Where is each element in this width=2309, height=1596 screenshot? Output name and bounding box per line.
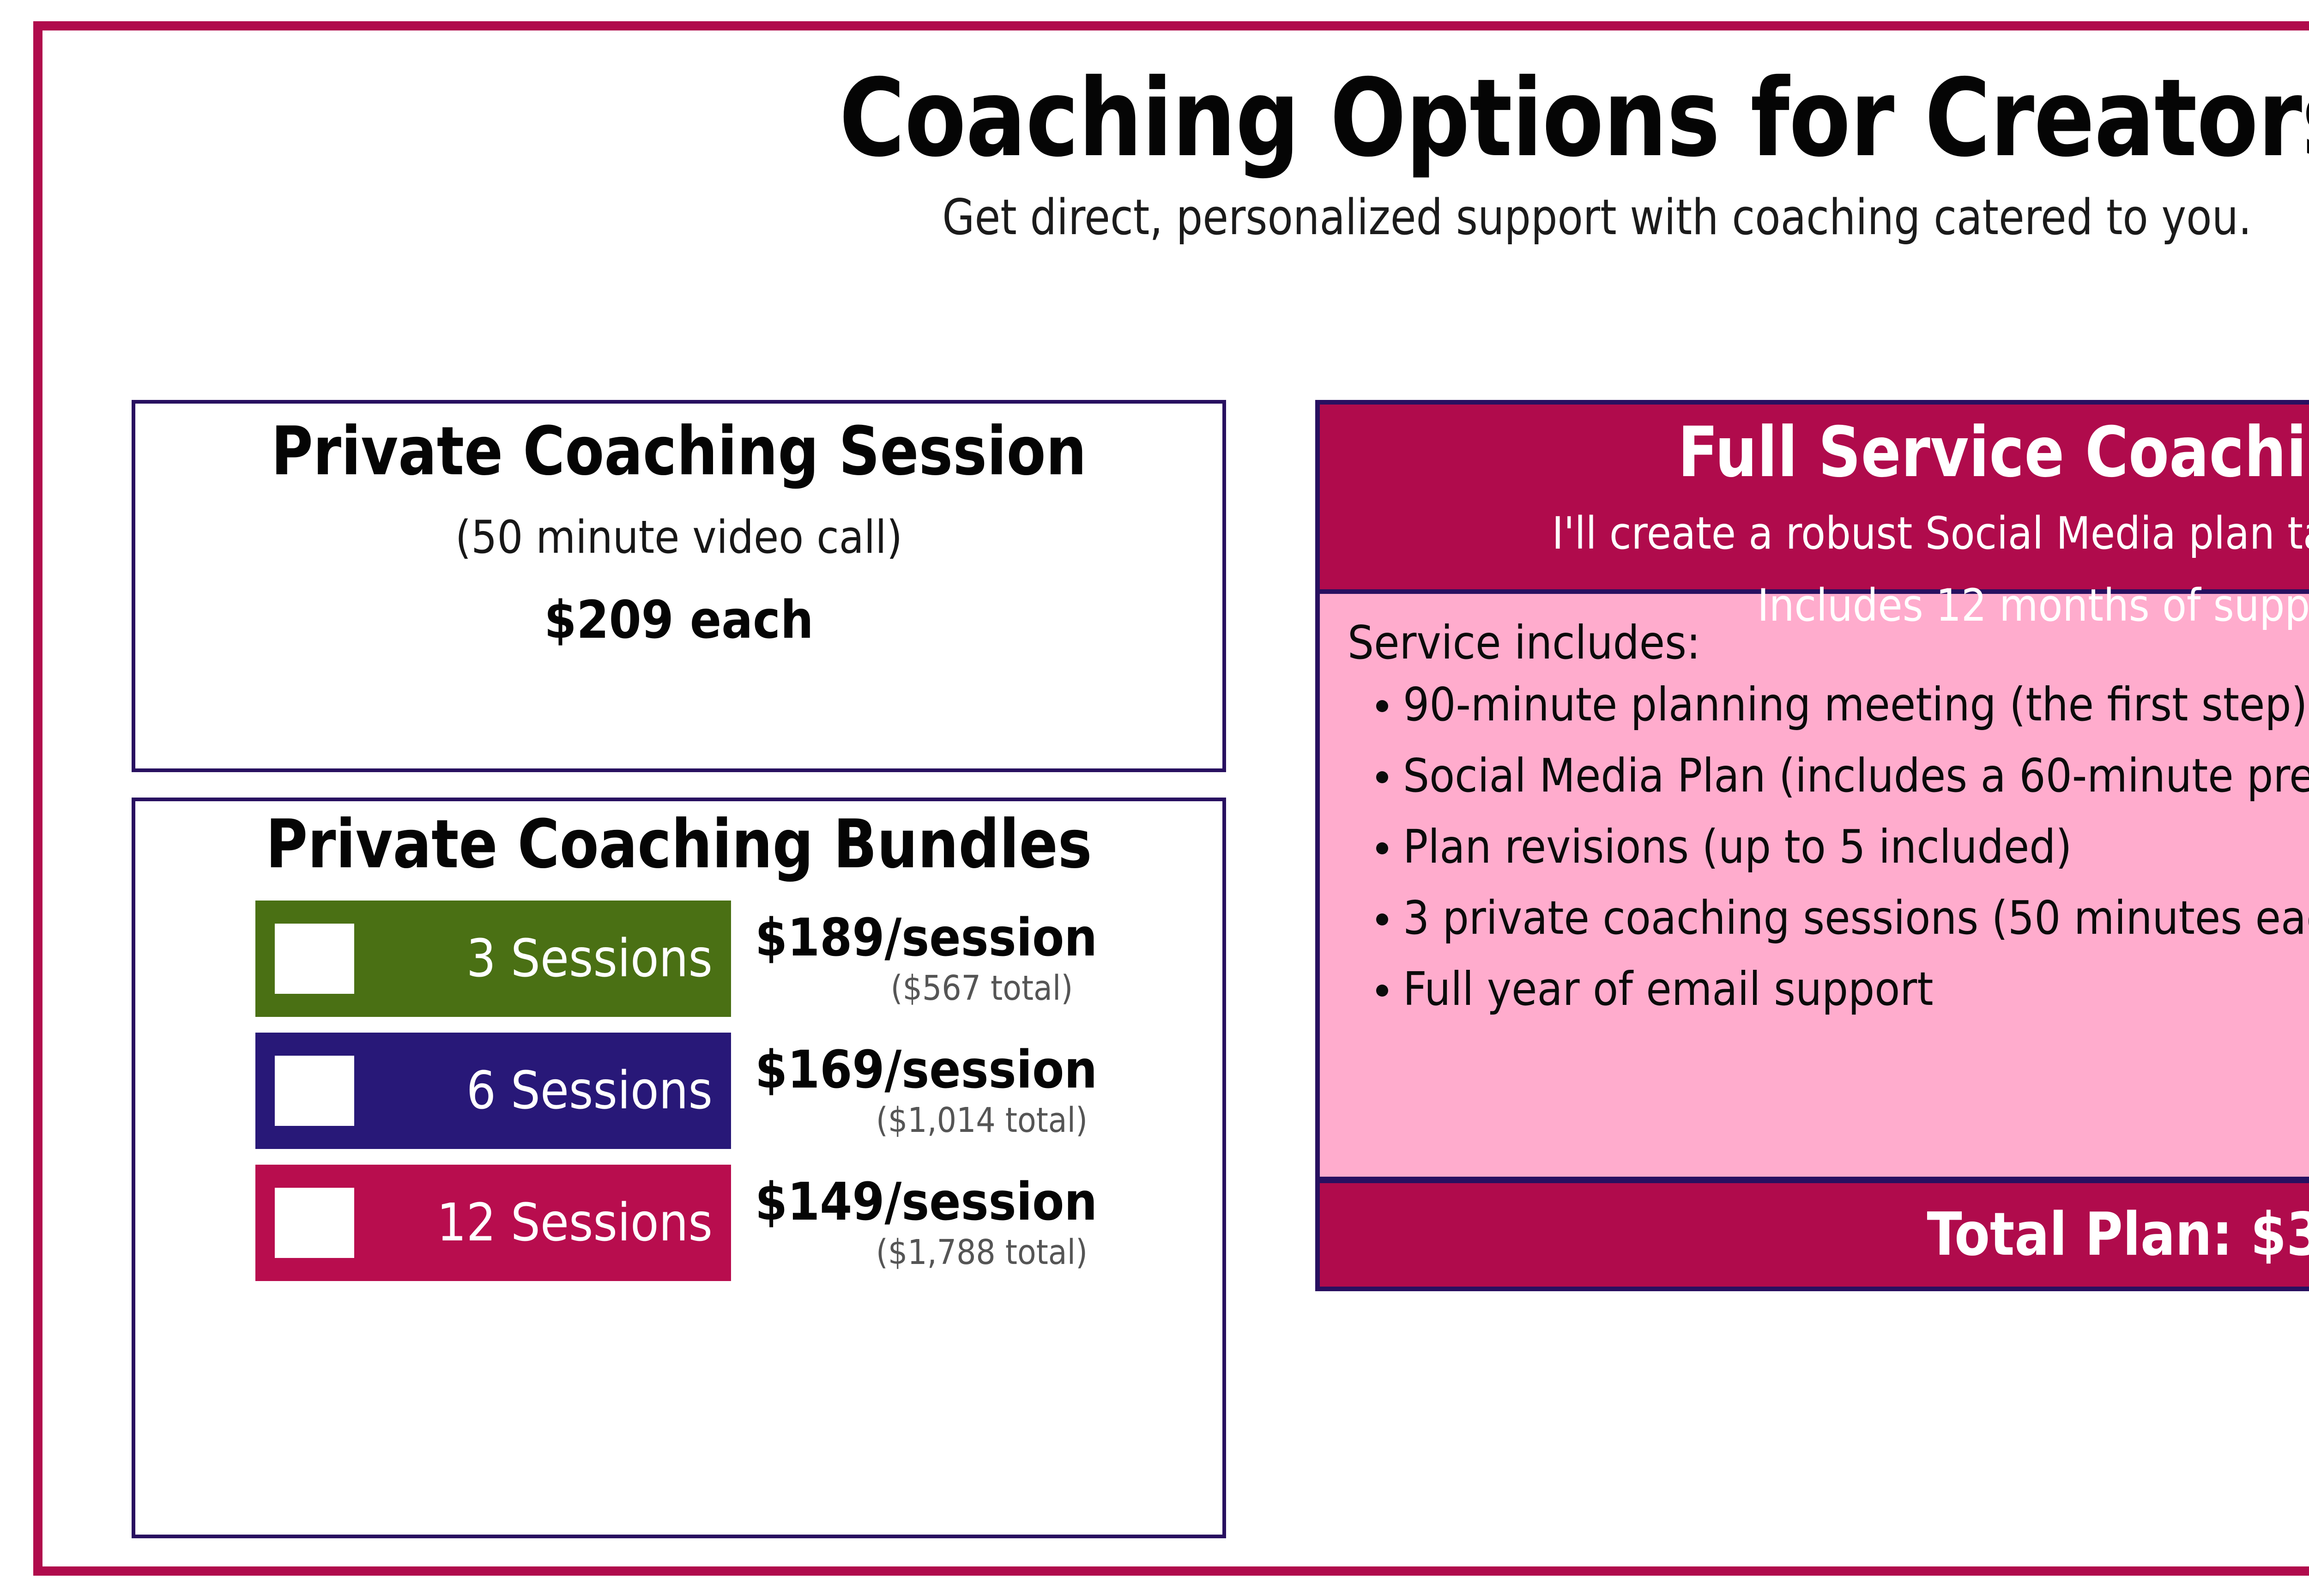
program-total-bar: Total Plan: $3,479	[1315, 1177, 2309, 1291]
poster-header: Coaching Options for Creators Get direct…	[33, 65, 2309, 242]
program-description-line-1: I'll create a robust Social Media plan t…	[1348, 505, 2309, 562]
list-item-label: Social Media Plan (includes a 60-minute …	[1403, 749, 2309, 803]
list-item: Full year of email support	[1348, 966, 2309, 1012]
bundle-price-block: $169/session ($1,014 total)	[755, 1044, 1222, 1137]
bundle-swatch: 12 Sessions	[255, 1165, 731, 1281]
bullet-icon	[1376, 913, 1388, 925]
program-panel-header: Full Service Coaching Program I'll creat…	[1320, 405, 2309, 589]
list-item-label: Full year of email support	[1403, 962, 1934, 1016]
checkbox-chip-icon	[275, 1188, 354, 1258]
bundle-row[interactable]: 12 Sessions $149/session ($1,788 total)	[135, 1165, 1222, 1281]
bundle-price-total: ($1,014 total)	[755, 1103, 1222, 1137]
list-item: 90-minute planning meeting (the first st…	[1348, 682, 2309, 728]
right-column: Full Service Coaching Program I'll creat…	[1315, 400, 2309, 1291]
bullet-icon	[1376, 842, 1388, 854]
session-card-price: $209 each	[135, 593, 1222, 648]
bundle-row[interactable]: 3 Sessions $189/session ($567 total)	[135, 901, 1222, 1017]
checkbox-chip-icon	[275, 924, 354, 994]
bundles-card-heading: Private Coaching Bundles	[163, 809, 1195, 881]
left-column: Private Coaching Session (50 minute vide…	[132, 400, 1226, 1538]
session-card-subtext: (50 minute video call)	[135, 514, 1222, 562]
bundle-sessions-label: 12 Sessions	[437, 1197, 713, 1249]
private-coaching-bundles-card: Private Coaching Bundles 3 Sessions $189…	[132, 798, 1226, 1538]
bundle-price-block: $149/session ($1,788 total)	[755, 1176, 1222, 1270]
bullet-icon	[1376, 771, 1388, 783]
list-item: Social Media Plan (includes a 60-minute …	[1348, 753, 2309, 799]
bundle-swatch: 3 Sessions	[255, 901, 731, 1017]
program-total-label: Total Plan: $3,479	[1927, 1205, 2309, 1264]
bundle-price-total: ($567 total)	[755, 971, 1222, 1005]
bundle-price-per-session: $149/session	[755, 1176, 1222, 1228]
list-item-label: 90-minute planning meeting (the first st…	[1403, 677, 2308, 731]
list-item-label: 3 private coaching sessions (50 minutes …	[1403, 891, 2309, 945]
bundle-sessions-label: 6 Sessions	[466, 1065, 713, 1117]
bundle-rows: 3 Sessions $189/session ($567 total) 6 S…	[135, 901, 1222, 1281]
bundle-price-total: ($1,788 total)	[755, 1235, 1222, 1270]
session-card-heading: Private Coaching Session	[163, 416, 1195, 488]
page-subtitle: Get direct, personalized support with co…	[111, 193, 2309, 242]
bullet-icon	[1376, 985, 1388, 997]
full-service-program-panel: Full Service Coaching Program I'll creat…	[1315, 400, 2309, 594]
bundle-swatch: 6 Sessions	[255, 1033, 731, 1149]
page-title: Coaching Options for Creators	[143, 65, 2309, 172]
checkbox-chip-icon	[275, 1056, 354, 1126]
private-coaching-session-card: Private Coaching Session (50 minute vide…	[132, 400, 1226, 772]
bundle-price-per-session: $169/session	[755, 1044, 1222, 1096]
coaching-pricing-poster: Coaching Options for Creators Get direct…	[0, 0, 2309, 1596]
bundle-sessions-label: 3 Sessions	[466, 933, 713, 985]
bullet-icon	[1376, 700, 1388, 712]
service-includes-list: 90-minute planning meeting (the first st…	[1348, 682, 2309, 1012]
program-heading: Full Service Coaching Program	[1390, 417, 2309, 490]
bundle-row[interactable]: 6 Sessions $169/session ($1,014 total)	[135, 1033, 1222, 1149]
list-item-label: Plan revisions (up to 5 included)	[1403, 820, 2072, 874]
bundle-price-per-session: $189/session	[755, 912, 1222, 964]
bundle-price-block: $189/session ($567 total)	[755, 912, 1222, 1005]
list-item: 3 private coaching sessions (50 minutes …	[1348, 895, 2309, 941]
program-includes-body: Service includes: 90-minute planning mee…	[1315, 594, 2309, 1177]
list-item: Plan revisions (up to 5 included)	[1348, 824, 2309, 870]
